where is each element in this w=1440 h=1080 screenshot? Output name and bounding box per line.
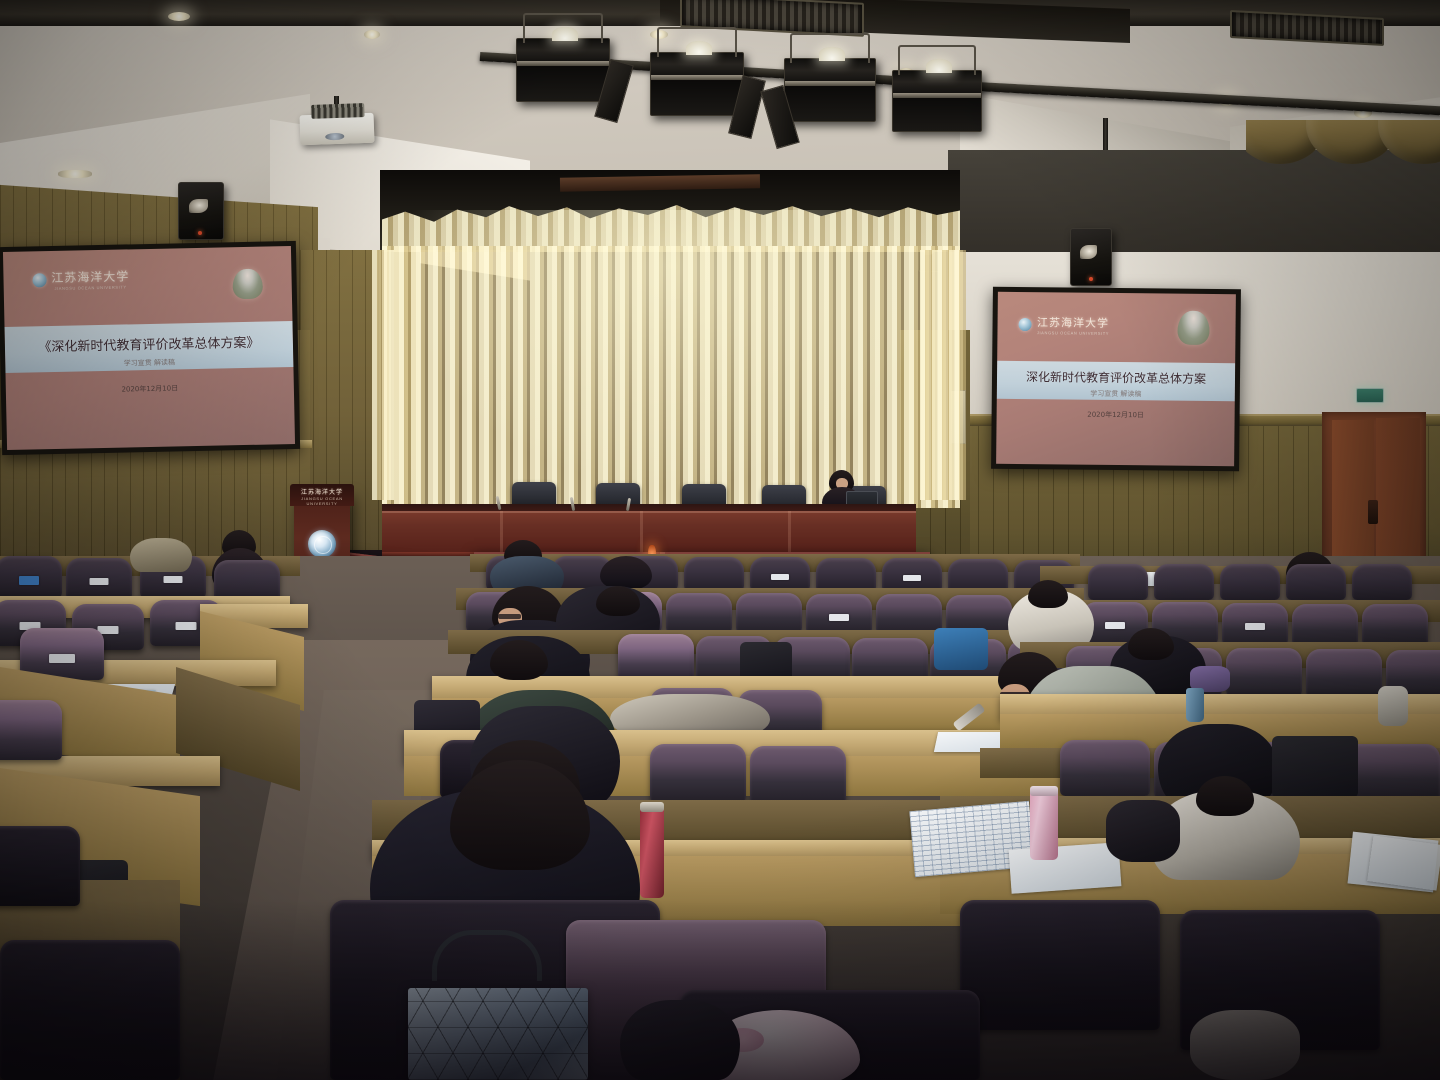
exit-sign [1356,388,1384,403]
recessed-ceiling-light [364,30,380,39]
bottle-cap [1030,786,1058,796]
stage-curtain-right-edge [920,250,966,500]
left-slide-logo-text: 江苏海洋大学 [51,267,129,286]
seat[interactable] [1154,564,1214,600]
stage-table-panel-seam [640,511,643,555]
recessed-ceiling-light [58,170,92,178]
papers-on-desk [1009,842,1122,894]
projector-mount-pole [1103,118,1108,152]
right-slide-emblem [1177,311,1209,345]
university-seal-icon [308,530,336,558]
seat[interactable] [66,558,132,600]
right-slide-date: 2020年12月10日 [997,409,1235,421]
ceiling-projector [299,113,374,146]
door-handle[interactable] [1368,500,1378,524]
seat-foreground[interactable] [0,940,180,1080]
dark-fur-item [1106,800,1180,862]
right-slide-title: 深化新时代教育评价改革总体方案 [997,367,1235,386]
eyeglasses [498,614,521,619]
person-seated [600,556,652,590]
water-bottle [1186,688,1204,722]
seat-foreground[interactable] [960,900,1160,1030]
seat[interactable] [1220,564,1280,600]
right-slide-logo-text: 江苏海洋大学 [1037,315,1109,332]
curtain-light-glow [400,210,940,490]
gold-swag-valance [1246,120,1440,172]
seat[interactable] [684,557,744,591]
stage-light-fixture [516,38,610,102]
seat[interactable] [1306,649,1382,697]
hood-foreground [1190,1010,1300,1080]
person-head [1028,580,1068,608]
stage-table-panel-seam [500,511,503,555]
fur-hood-coat [130,538,192,572]
seat[interactable] [0,556,62,598]
wall-speaker-right [1070,228,1112,286]
right-slide-logo: 江苏海洋大学 JIANGSU OCEAN UNIVERSITY [1019,314,1109,336]
seat[interactable] [882,558,942,592]
right-screen-surface: 江苏海洋大学 JIANGSU OCEAN UNIVERSITY 深化新时代教育评… [996,292,1236,466]
left-projection-screen: 江苏海洋大学 JIANGSU OCEAN UNIVERSITY 《深化新时代教育… [0,241,300,455]
seat[interactable] [1352,564,1412,600]
lectern-top: 江苏海洋大学 JIANGSU OCEAN UNIVERSITY [290,484,354,506]
seat[interactable] [806,594,872,634]
seat[interactable] [876,594,942,634]
stage-curtain-left-edge [372,250,394,500]
right-projection-screen: 江苏海洋大学 JIANGSU OCEAN UNIVERSITY 深化新时代教育评… [991,287,1241,472]
seat[interactable] [1060,740,1150,796]
left-slide-emblem [233,268,264,299]
handbag-handle [432,930,542,981]
person-head [1128,628,1174,660]
wall-speaker-left [178,182,224,240]
lectern-label-en: JIANGSU OCEAN UNIVERSITY [290,496,354,506]
lectern-label: 江苏海洋大学 [290,487,354,496]
person-coat-foreground [620,1000,740,1080]
seat[interactable] [0,700,62,760]
auditorium-photo: 江苏海洋大学 JIANGSU OCEAN UNIVERSITY 江苏海洋大学 J… [0,0,1440,1080]
pink-water-bottle [1030,790,1058,860]
university-seal-icon [32,273,46,287]
stage-table-panel-seam [788,511,791,555]
seat[interactable] [750,557,810,591]
person-head [596,586,640,616]
seat[interactable] [1226,648,1302,696]
backpack-on-seat [1272,736,1358,798]
left-screen-surface: 江苏海洋大学 JIANGSU OCEAN UNIVERSITY 《深化新时代教育… [3,246,295,450]
white-bottle [1378,686,1408,726]
seat[interactable] [1292,604,1358,646]
seat[interactable] [0,826,80,906]
seat[interactable] [750,746,846,804]
seat[interactable] [736,593,802,633]
stage-light-fixture [784,58,876,122]
stage-light-fixture [650,52,744,116]
thermos-bottle [640,806,664,898]
left-slide-logo-text-en: JIANGSU OCEAN UNIVERSITY [51,284,129,291]
right-slide-logo-text-en: JIANGSU OCEAN UNIVERSITY [1037,331,1109,337]
geometric-handbag[interactable] [408,988,588,1080]
blue-bag [934,628,988,670]
left-slide-logo: 江苏海洋大学 JIANGSU OCEAN UNIVERSITY [32,267,129,291]
seat[interactable] [618,634,694,680]
seat[interactable] [666,593,732,633]
seat[interactable] [816,558,876,592]
seat[interactable] [1362,604,1428,646]
seat[interactable] [650,744,746,802]
recessed-ceiling-light [168,12,190,21]
thermos-lid [640,802,664,812]
seat[interactable] [1286,564,1346,600]
stage-light-fixture [892,70,982,132]
university-seal-icon [1019,318,1032,331]
seat[interactable] [1088,564,1148,600]
left-slide-date: 2020年12月10日 [6,381,294,397]
seat[interactable] [1222,603,1288,645]
papers-on-desk [1367,835,1440,890]
